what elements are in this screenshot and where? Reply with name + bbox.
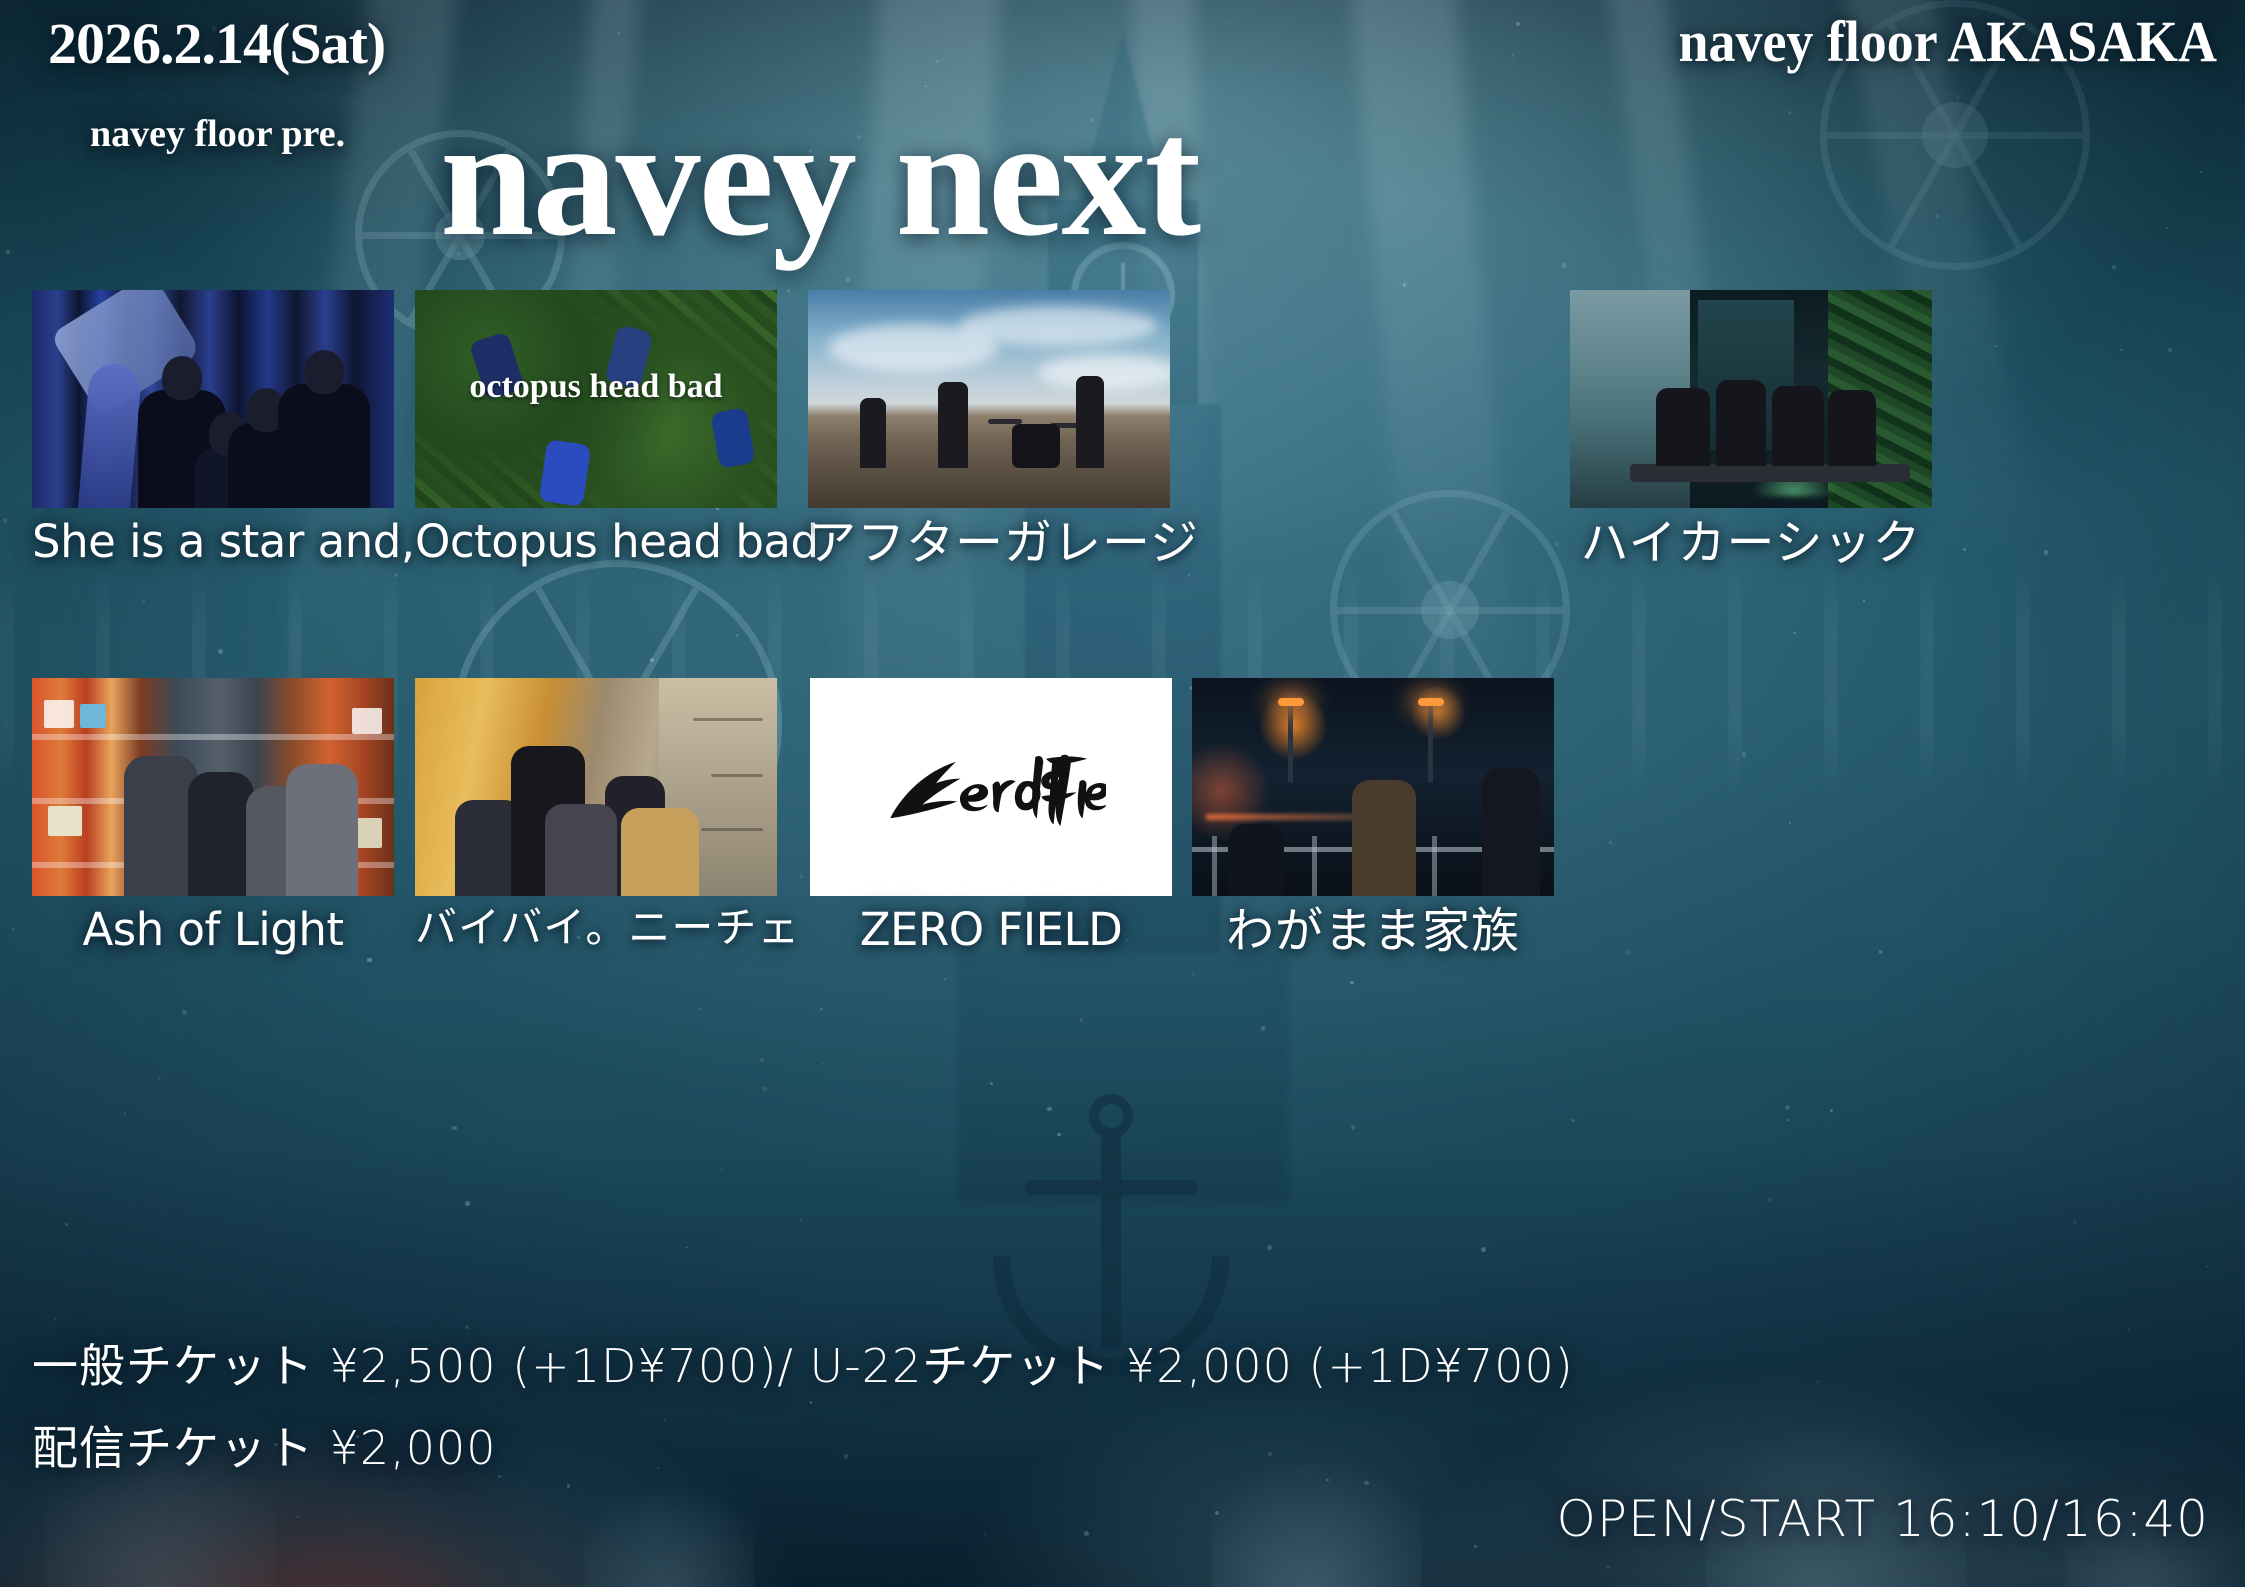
band-name: ハイカーシック — [1570, 518, 1932, 568]
wagamama-kazoku-photo — [1192, 678, 1554, 896]
band-card[interactable]: バイバイ。ニーチェ — [415, 678, 777, 950]
lineup-grid: She is a star and, octopus head bad Octo… — [0, 290, 2245, 978]
zero-field-logo — [810, 678, 1172, 896]
band-card[interactable]: アフターガレージ — [808, 290, 1170, 568]
photo-caption: octopus head bad — [415, 368, 777, 406]
event-flyer: 2026.2.14(Sat) navey floor AKASAKA navey… — [0, 0, 2245, 1587]
band-card[interactable]: わがまま家族 — [1192, 678, 1554, 956]
band-card[interactable]: She is a star and, — [32, 290, 394, 565]
band-card[interactable]: ZERO FIELD — [810, 678, 1172, 953]
band-name: わがまま家族 — [1192, 906, 1554, 956]
band-name: Ash of Light — [32, 906, 394, 953]
ticket-price-stream: 配信チケット ¥2,000 — [32, 1412, 497, 1478]
band-card[interactable]: octopus head bad Octopus head bad — [415, 290, 777, 565]
ticket-price-general: 一般チケット ¥2,500 (+1D¥700)/ U-22チケット ¥2,000… — [32, 1330, 1574, 1396]
ash-of-light-photo — [32, 678, 394, 896]
open-start-time: OPEN/START 16:10/16:40 — [1556, 1490, 2209, 1548]
lineup-row: She is a star and, octopus head bad Octo… — [0, 290, 2245, 590]
octopus-head-bad-photo: octopus head bad — [415, 290, 777, 508]
lineup-row: Ash of Light バイバイ。ニーチェ — [0, 678, 2245, 978]
band-name: ZERO FIELD — [810, 906, 1172, 953]
band-name: バイバイ。ニーチェ — [415, 906, 777, 950]
venue-name: navey floor AKASAKA — [1679, 8, 2217, 75]
presenter-label: navey floor pre. — [90, 112, 345, 156]
band-card[interactable]: Ash of Light — [32, 678, 394, 953]
band-name: She is a star and, — [32, 518, 394, 565]
after-garage-photo — [808, 290, 1170, 508]
band-card[interactable]: ハイカーシック — [1570, 290, 1932, 568]
band-name: Octopus head bad — [415, 518, 777, 565]
page-title: navey next — [440, 92, 1199, 262]
hiker-sick-photo — [1570, 290, 1932, 508]
bye-bye-nietzsche-photo — [415, 678, 777, 896]
band-name: アフターガレージ — [808, 518, 1170, 568]
she-is-a-star-and-photo — [32, 290, 394, 508]
event-date: 2026.2.14(Sat) — [48, 10, 385, 77]
